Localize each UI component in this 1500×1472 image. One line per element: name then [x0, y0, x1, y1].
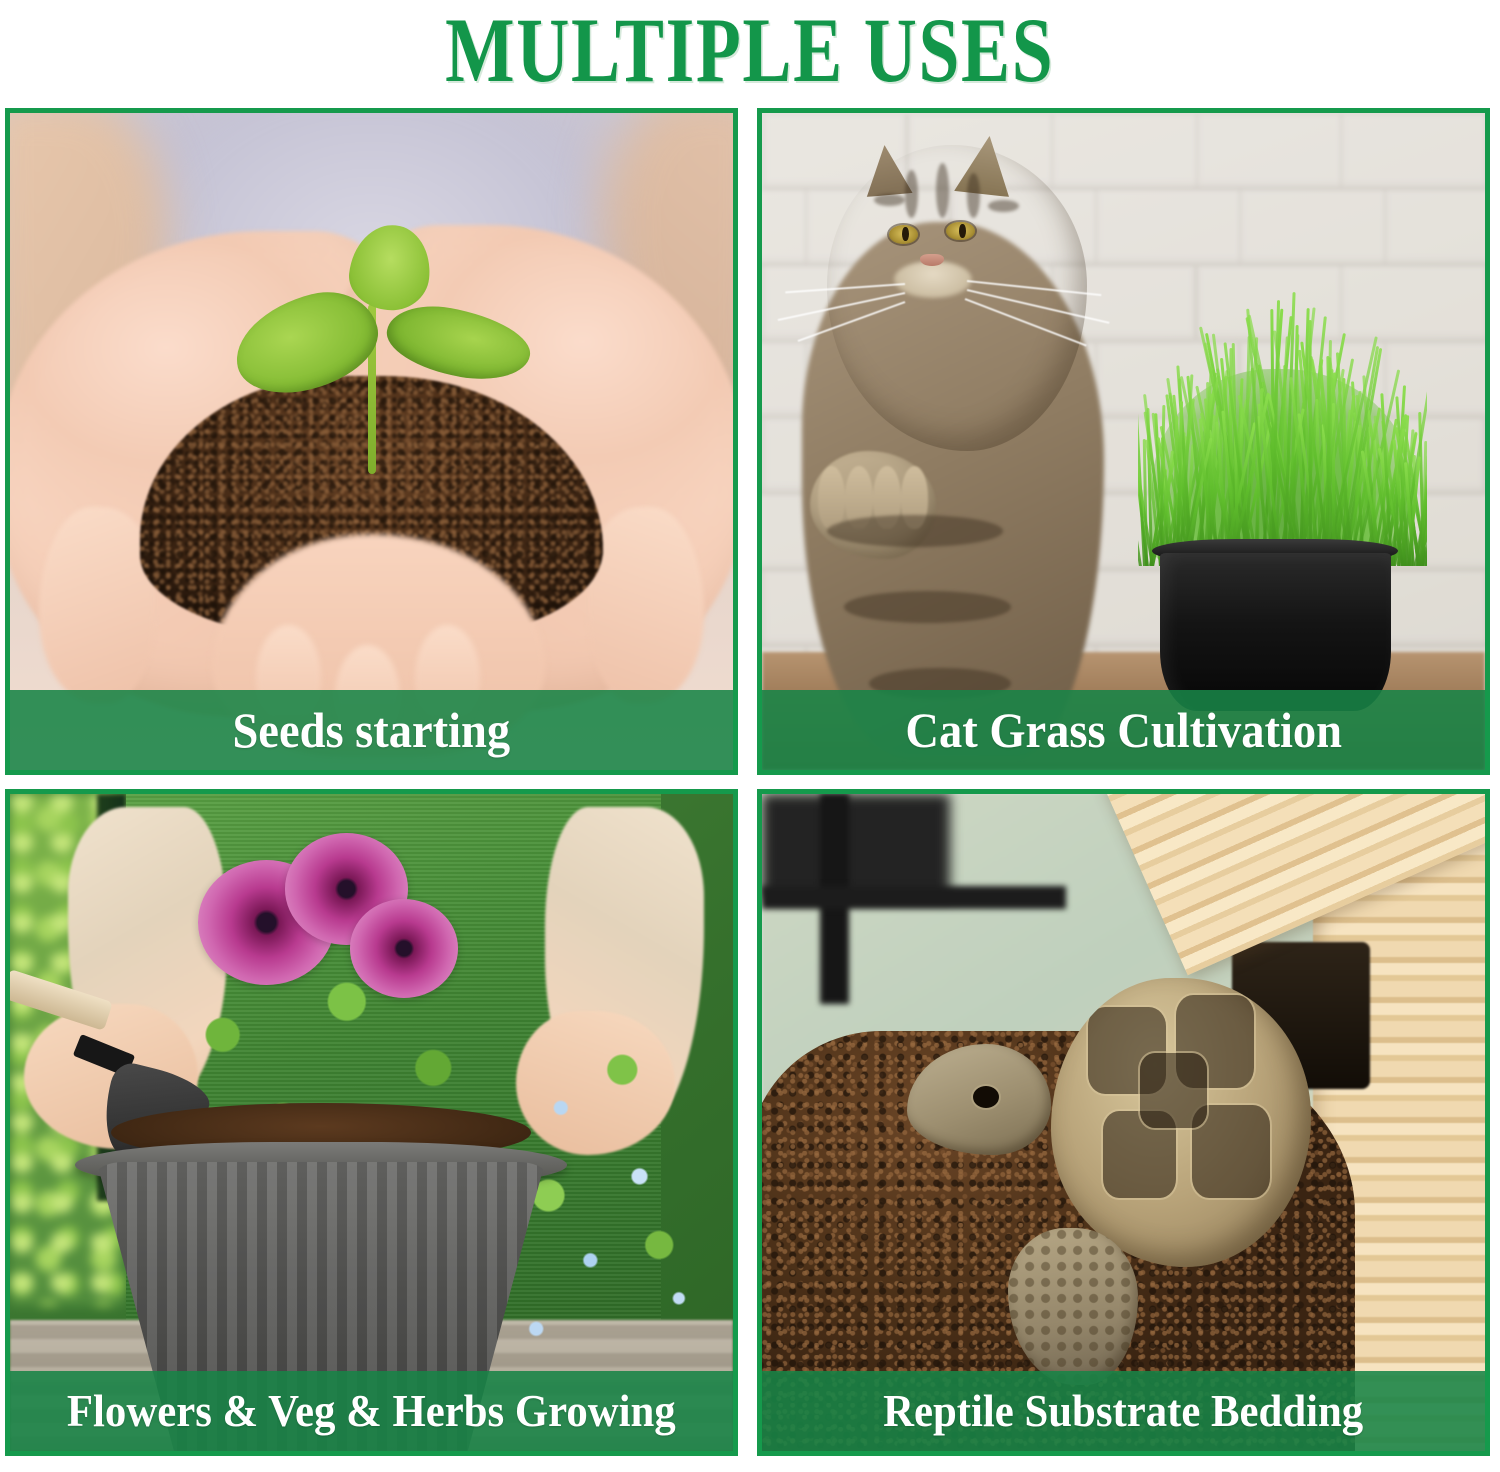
tortoise-shell: [1051, 978, 1311, 1267]
cat-grass-photo: [762, 113, 1485, 770]
panel-caption-text: Flowers & Veg & Herbs Growing: [67, 1385, 676, 1437]
panel-caption-bar: Reptile Substrate Bedding: [762, 1371, 1485, 1451]
use-case-panel-reptile-substrate-bedding[interactable]: Reptile Substrate Bedding: [757, 789, 1490, 1456]
use-case-gallery: Seeds starting: [5, 108, 1495, 1464]
panel-caption-text: Reptile Substrate Bedding: [883, 1385, 1363, 1437]
panel-caption-text: Seeds starting: [233, 704, 511, 756]
use-case-panel-cat-grass-cultivation[interactable]: Cat Grass Cultivation: [757, 108, 1490, 775]
petunia-flower: [350, 899, 458, 998]
panel-caption-bar: Cat Grass Cultivation: [762, 690, 1485, 770]
panel-caption-bar: Flowers & Veg & Herbs Growing: [10, 1371, 733, 1451]
flowers-planting-photo: [10, 794, 733, 1451]
panel-caption-bar: Seeds starting: [10, 690, 733, 770]
multiple-uses-infographic: MULTIPLE USES: [0, 0, 1500, 1472]
cat-eye: [946, 222, 975, 241]
reptile-substrate-photo: [762, 794, 1485, 1451]
seeds-starting-photo: [10, 113, 733, 770]
use-case-panel-seeds-starting[interactable]: Seeds starting: [5, 108, 738, 775]
tortoise-eye: [973, 1086, 999, 1108]
page-title: MULTIPLE USES: [445, 4, 1054, 96]
panel-caption-text: Cat Grass Cultivation: [905, 704, 1342, 756]
cat-grass: [1138, 290, 1427, 566]
cat-eye: [889, 225, 918, 244]
black-plant-pot: [1160, 553, 1391, 711]
page-title-bar: MULTIPLE USES: [0, 0, 1500, 100]
use-case-panel-flowers-veg-herbs-growing[interactable]: Flowers & Veg & Herbs Growing: [5, 789, 738, 1456]
cat: [776, 120, 1195, 757]
